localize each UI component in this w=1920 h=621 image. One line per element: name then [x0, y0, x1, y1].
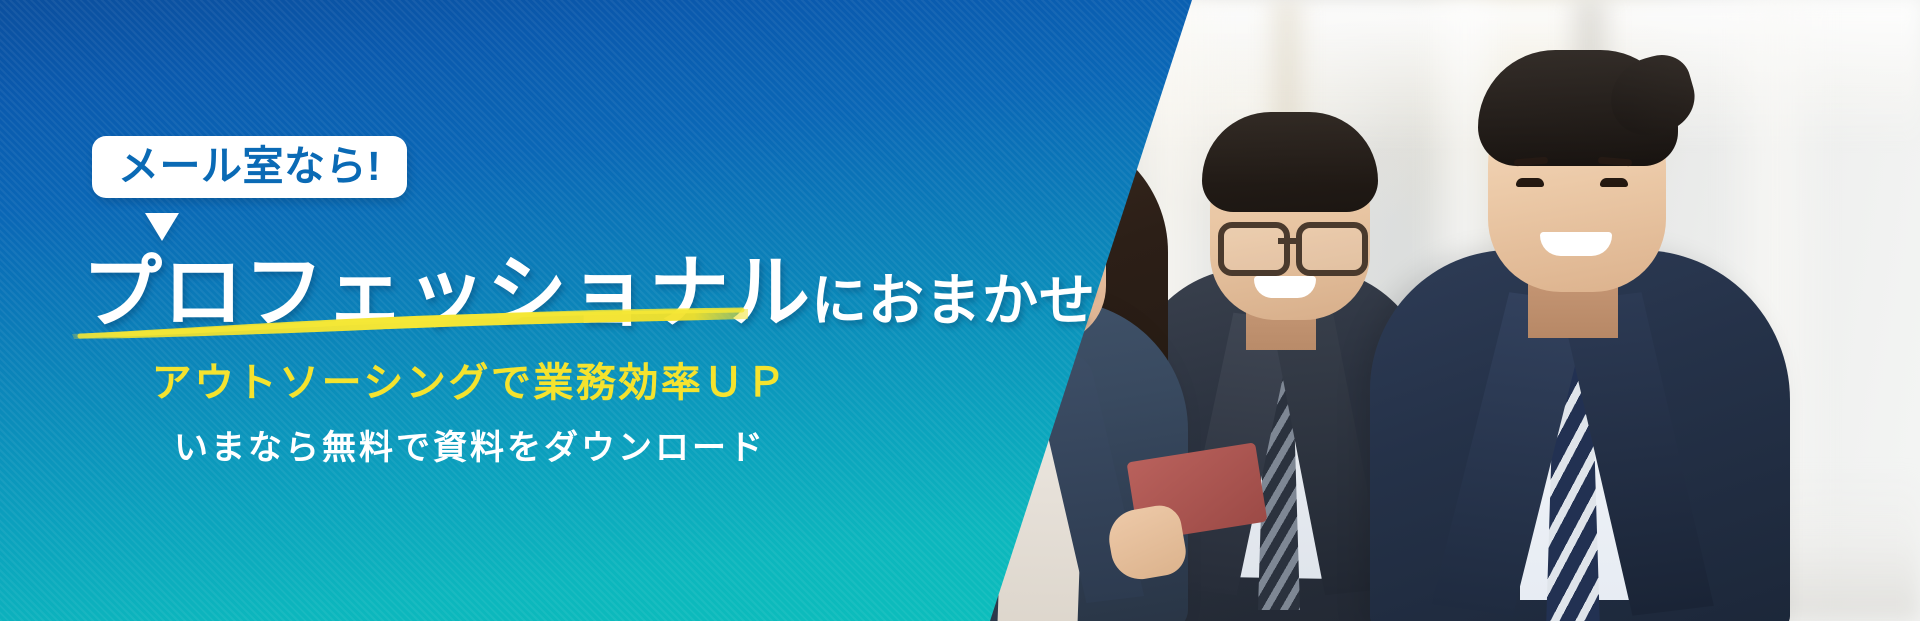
eyeglasses-lens-right — [1296, 222, 1368, 276]
promo-banner: メール室なら! プロフェッショナルにおまかせ アウトソーシングで業務効率ＵＰ い… — [0, 0, 1920, 621]
hair — [1202, 112, 1378, 212]
eyeglasses-lens-left — [1218, 222, 1290, 276]
speech-bubble: メール室なら! — [92, 136, 407, 198]
smile — [1540, 232, 1612, 256]
eye-right — [1600, 178, 1628, 187]
tagline: いまなら無料で資料をダウンロード — [0, 420, 940, 469]
eyeglasses-bridge — [1278, 238, 1298, 244]
eye-left — [1516, 178, 1544, 187]
headline-suffix: におまかせ — [811, 269, 1096, 332]
headline: プロフェッショナルにおまかせ — [82, 228, 1096, 344]
subtitle: アウトソーシングで業務効率ＵＰ — [0, 350, 940, 408]
speech-bubble-label: メール室なら! — [118, 144, 381, 188]
smile — [1254, 276, 1316, 298]
headline-emphasis: プロフェッショナル — [82, 248, 811, 337]
banner-content: メール室なら! プロフェッショナルにおまかせ アウトソーシングで業務効率ＵＰ い… — [0, 0, 1000, 621]
